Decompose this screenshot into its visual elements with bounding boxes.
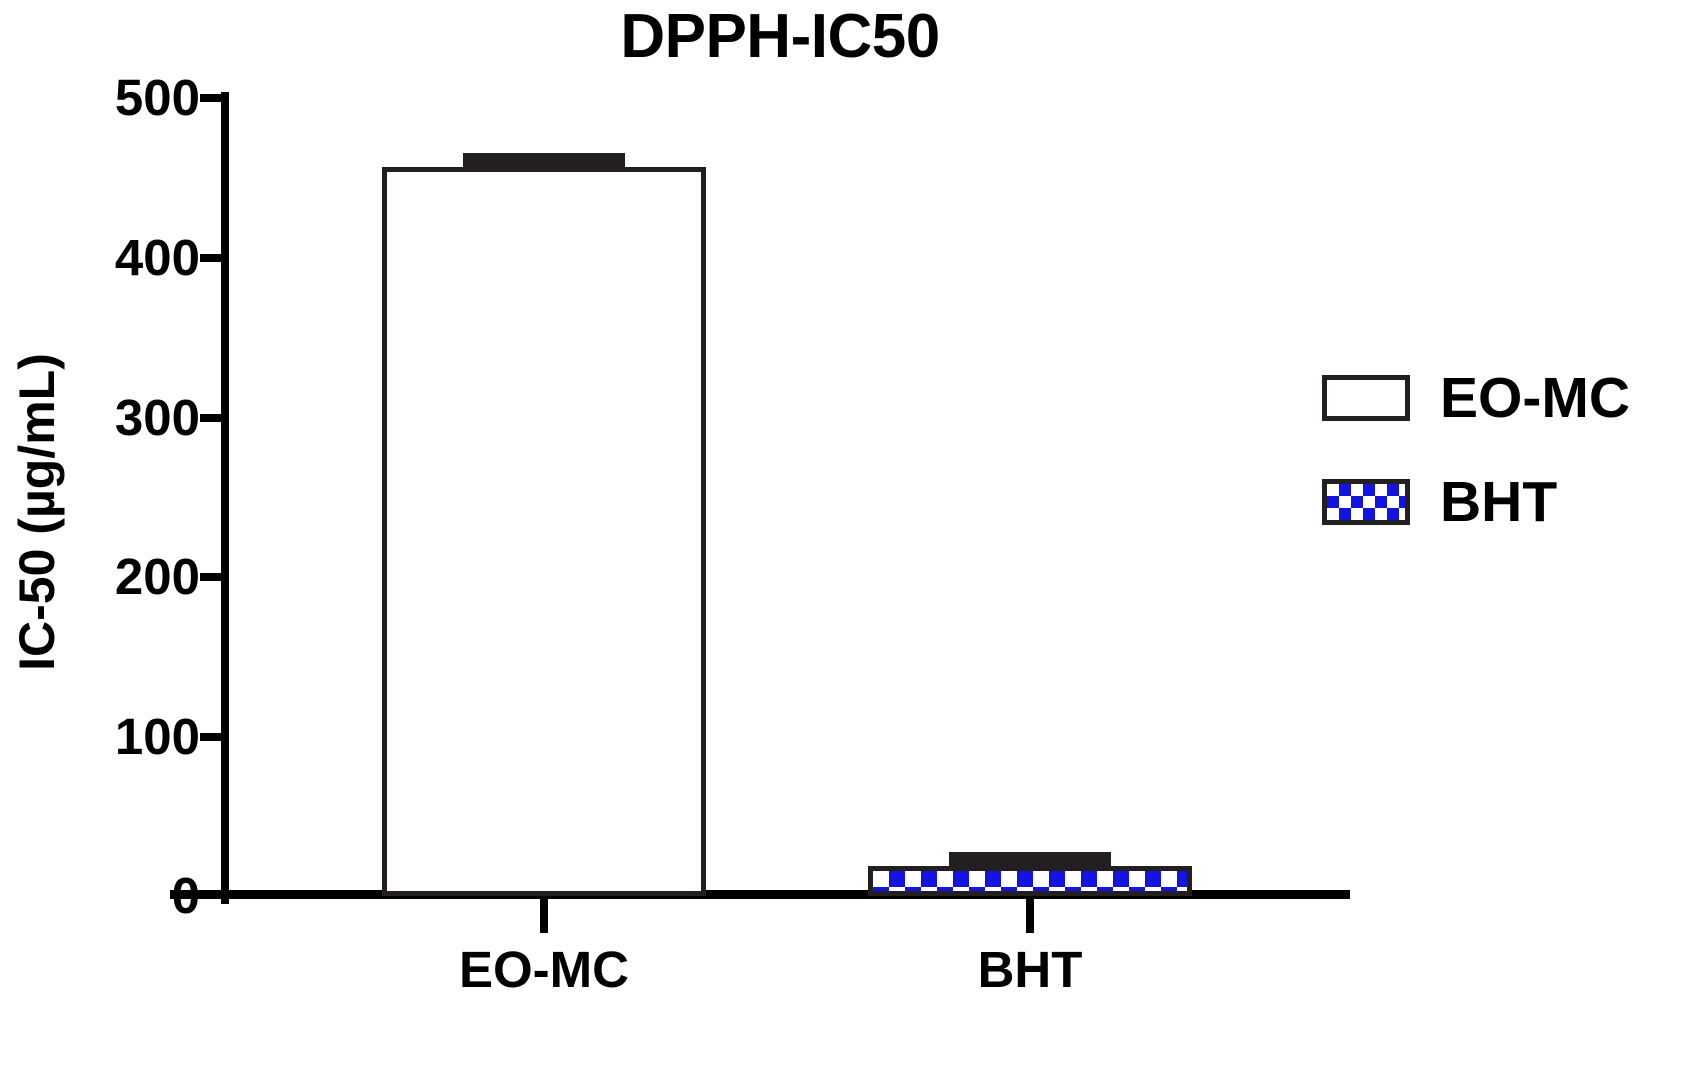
y-axis-spine <box>221 92 229 904</box>
x-tick-label-bht: BHT <box>880 940 1180 1000</box>
y-tick-mark-500 <box>200 94 222 102</box>
legend-item-bht: BHT <box>1322 450 1682 554</box>
y-tick-label-100: 100 <box>40 711 200 762</box>
legend-swatch-bht-icon <box>1322 479 1410 525</box>
chart-title: DPPH-IC50 <box>0 2 1560 72</box>
x-tick-mark-bht <box>1026 898 1034 933</box>
y-tick-label-400: 400 <box>40 232 200 283</box>
y-tick-mark-200 <box>200 573 222 581</box>
bar-eomc <box>382 167 706 896</box>
chart-legend: EO-MC BHT <box>1322 346 1682 554</box>
y-tick-mark-400 <box>200 254 222 262</box>
bar-bht <box>868 866 1192 896</box>
x-tick-label-eomc: EO-MC <box>394 940 694 1000</box>
legend-swatch-eomc-icon <box>1322 375 1410 421</box>
y-tick-label-300: 300 <box>40 392 200 443</box>
y-tick-label-200: 200 <box>40 551 200 602</box>
legend-label-eomc: EO-MC <box>1440 368 1630 428</box>
y-tick-mark-100 <box>200 733 222 741</box>
y-tick-label-500: 500 <box>40 72 200 123</box>
error-bar-bht <box>949 852 1111 866</box>
x-tick-mark-eomc <box>540 898 548 933</box>
legend-label-bht: BHT <box>1440 472 1557 532</box>
chart-figure: DPPH-IC50 IC-50 (µg/mL) 500 400 300 200 … <box>0 0 1690 1072</box>
y-tick-mark-300 <box>200 414 222 422</box>
legend-item-eomc: EO-MC <box>1322 346 1682 450</box>
y-tick-label-0: 0 <box>40 870 200 921</box>
error-bar-eomc <box>463 153 625 167</box>
